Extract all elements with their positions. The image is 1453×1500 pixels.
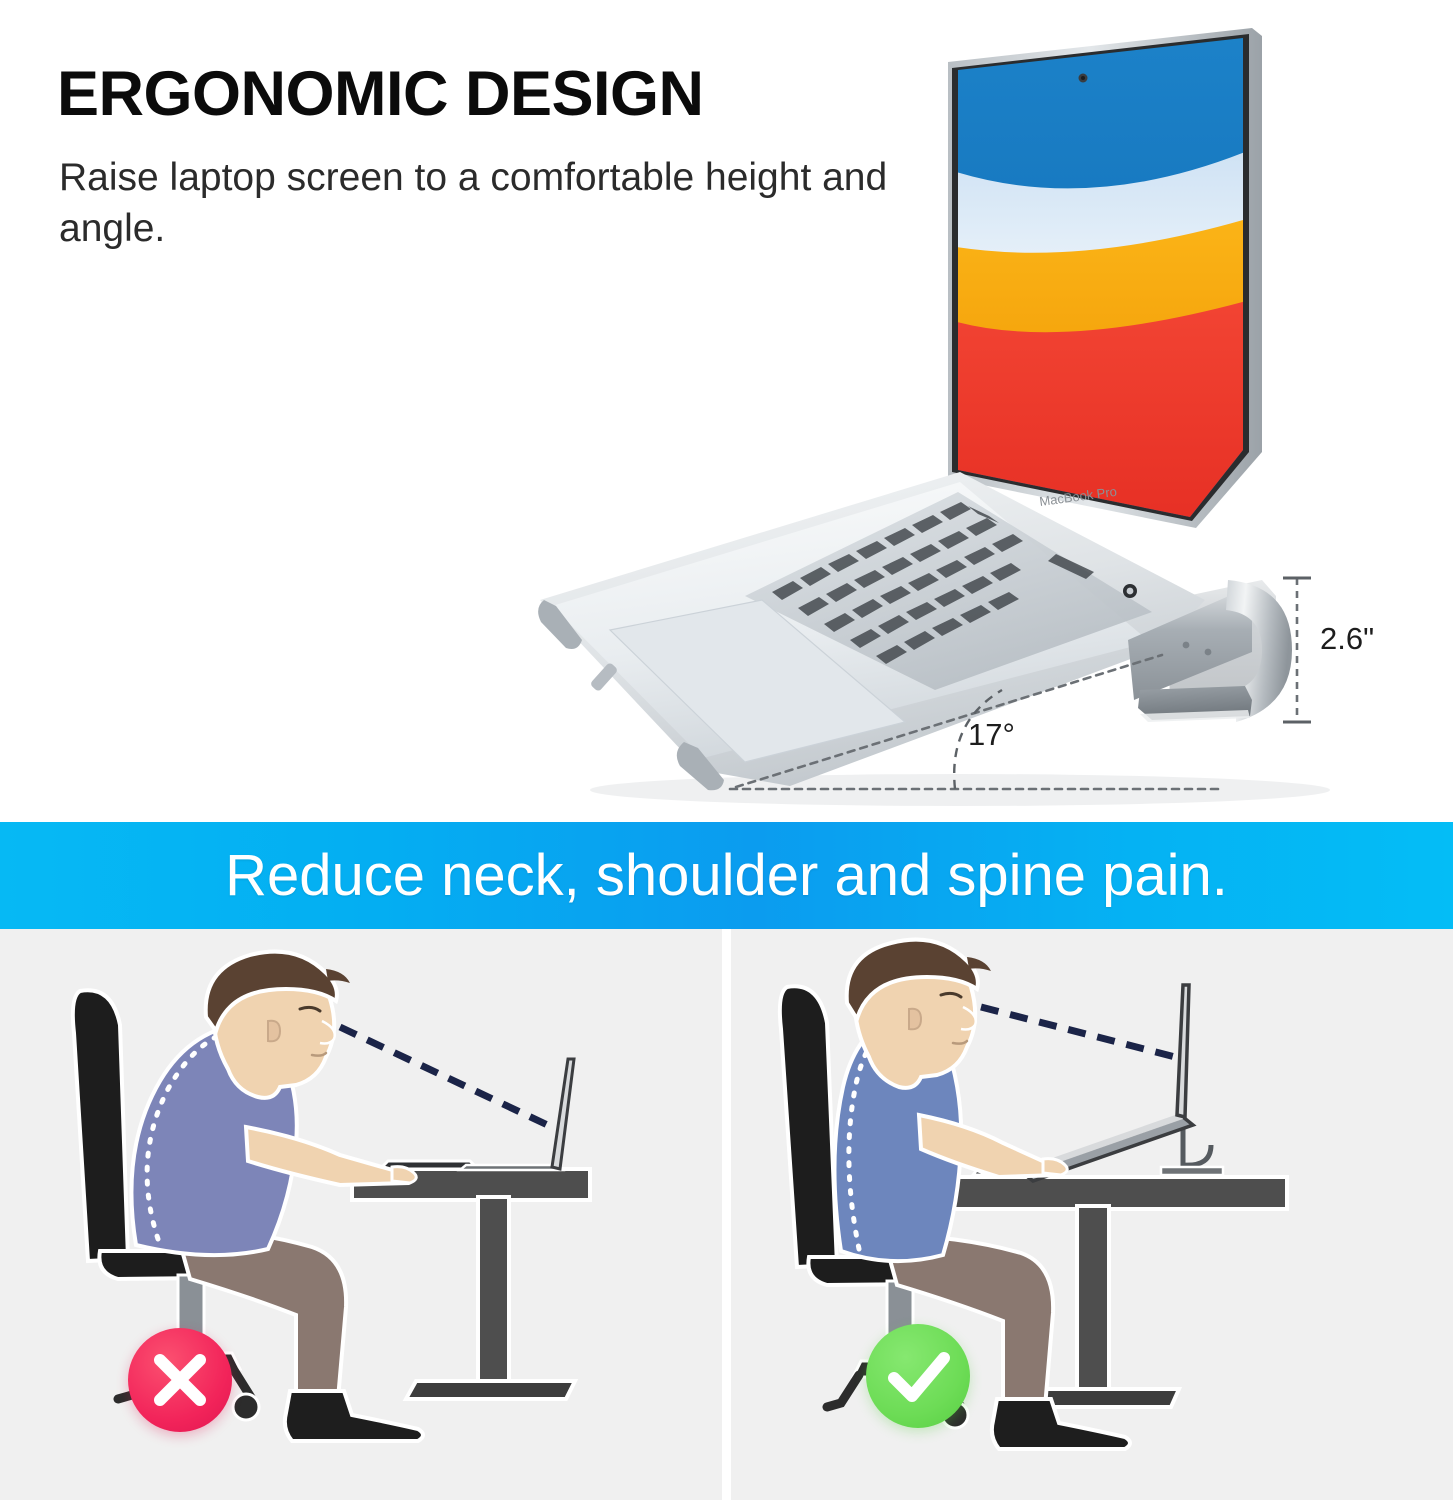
panel-good-posture: [731, 929, 1453, 1500]
laptop-flat: [380, 1059, 574, 1170]
panel-bad-posture: [0, 929, 722, 1500]
good-posture-illustration: [731, 929, 1453, 1500]
stand-screw-1: [1183, 642, 1190, 649]
stand-height-label: 2.6": [1320, 621, 1374, 657]
stand-screw-2: [1205, 649, 1212, 656]
check-badge: [866, 1324, 970, 1428]
check-icon: [866, 1324, 970, 1428]
screen-wallpaper: [950, 30, 1250, 530]
tilt-angle-label: 17°: [968, 717, 1015, 753]
panel-divider: [722, 929, 731, 1500]
hero-section: ERGONOMIC DESIGN Raise laptop screen to …: [0, 0, 1453, 822]
sightline-bad: [340, 1027, 556, 1129]
cross-badge: [128, 1328, 232, 1432]
benefit-banner-text: Reduce neck, shoulder and spine pain.: [0, 822, 1453, 929]
desk: [352, 1169, 590, 1399]
shoe: [285, 1391, 423, 1441]
cross-icon: [128, 1328, 232, 1432]
bad-posture-illustration: [0, 929, 722, 1500]
laptop-on-stand-illustration: MacBook Pro: [0, 0, 1453, 822]
benefit-banner: Reduce neck, shoulder and spine pain.: [0, 822, 1453, 929]
sightline-good: [981, 1007, 1183, 1059]
